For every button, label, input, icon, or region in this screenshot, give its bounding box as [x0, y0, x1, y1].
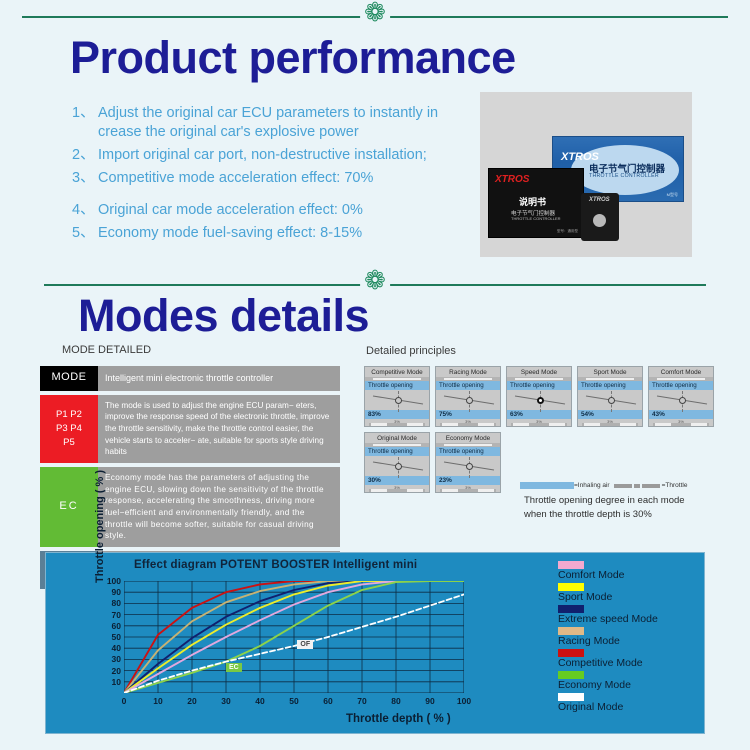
mode-principle-card: Original ModeThrottle opening30%3%: [364, 432, 430, 493]
card-mode-name: Speed Mode: [507, 367, 571, 377]
chart-x-tick-label: 10: [153, 696, 162, 706]
gauge-dot-icon: [537, 397, 544, 404]
chart-y-tick-label: 100: [107, 576, 121, 586]
list-item-number: 2、: [72, 146, 98, 165]
performance-bullet-list: 1、 Adjust the original car ECU parameter…: [72, 104, 472, 247]
caption-line-2: when the throttle depth is 30%: [524, 508, 685, 522]
card-mode-name: Racing Mode: [436, 367, 500, 377]
chart-legend-item: Economy Mode: [558, 671, 658, 691]
mode-description: Economy mode has the parameters of adjus…: [98, 467, 340, 547]
card-foot: 3%: [365, 419, 429, 426]
card-legend: =Inhaling air =Throttle: [520, 482, 687, 489]
legend-swatch: [558, 627, 584, 635]
legend-swatch: [558, 693, 584, 701]
card-mode-name: Competitive Mode: [365, 367, 429, 377]
chart-legend-item: Original Mode: [558, 693, 658, 713]
mode-principle-card: Racing ModeThrottle opening75%3%: [435, 366, 501, 427]
legend-label: Comfort Mode: [558, 569, 658, 581]
chart-x-tick-label: 20: [187, 696, 196, 706]
table-row: MODE Intelligent mini electronic throttl…: [40, 366, 340, 391]
card-band-label: Throttle opening: [436, 447, 500, 456]
card-foot: 3%: [436, 485, 500, 492]
effect-diagram-panel: Effect diagram POTENT BOOSTER Intelligen…: [45, 552, 705, 734]
chart-y-tick-label: 70: [112, 610, 121, 620]
mode-description: The mode is used to adjust the engine EC…: [98, 395, 340, 463]
page-title-modes-details: Modes details: [78, 290, 369, 342]
chart-legend-item: Extreme speed Mode: [558, 605, 658, 625]
chart-legend-item: Racing Mode: [558, 627, 658, 647]
principle-cards: Competitive ModeThrottle opening83%3%Rac…: [364, 366, 714, 498]
card-foot: 3%: [578, 419, 642, 426]
chart-x-tick-label: 40: [255, 696, 264, 706]
legend-label: Extreme speed Mode: [558, 613, 658, 625]
page-title-product-performance: Product performance: [70, 32, 750, 84]
list-item-number: 3、: [72, 169, 98, 188]
gauge-dot-icon: [679, 397, 686, 404]
chart-x-axis-label: Throttle depth ( % ): [346, 713, 451, 725]
chart-title: Effect diagram POTENT BOOSTER Intelligen…: [134, 559, 417, 571]
gauge-dot-icon: [466, 463, 473, 470]
legend-label: Racing Mode: [558, 635, 658, 647]
card-top-strip: [365, 377, 429, 381]
card-top-strip: [365, 443, 429, 447]
gauge-dot-icon: [395, 397, 402, 404]
manual-subtitle-en: THROTTLE CONTROLLER: [511, 216, 561, 221]
gauge-dot-icon: [608, 397, 615, 404]
card-value: 83%: [365, 410, 429, 419]
card-value: 54%: [578, 410, 642, 419]
chart-y-tick-label: 20: [112, 666, 121, 676]
legend-label-inhaling-air: =Inhaling air: [574, 482, 610, 489]
chart-y-tick-label: 30: [112, 654, 121, 664]
card-gauge: [578, 390, 642, 410]
list-item-label: Competitive mode acceleration effect: 70…: [98, 169, 373, 188]
card-foot-label: 3%: [394, 419, 400, 424]
card-foot-label: 3%: [394, 485, 400, 490]
table-row: EC Economy mode has the parameters of ad…: [40, 467, 340, 547]
card-band-label: Throttle opening: [365, 381, 429, 390]
card-value: 43%: [649, 410, 713, 419]
card-value: 63%: [507, 410, 571, 419]
box-model-code: M型号: [667, 192, 678, 198]
card-mode-name: Sport Mode: [578, 367, 642, 377]
card-foot-label: 3%: [678, 419, 684, 424]
chart-x-tick-label: 30: [221, 696, 230, 706]
legend-label: Economy Mode: [558, 679, 658, 691]
chart-x-tick-label: 70: [357, 696, 366, 706]
card-foot-label: 3%: [465, 419, 471, 424]
card-gauge: [365, 390, 429, 410]
throttle-controller-device: XTROS: [581, 193, 619, 241]
box-title-en: THROTTLE CONTROLLER: [589, 173, 659, 179]
card-mode-name: Economy Mode: [436, 433, 500, 443]
card-gauge: [649, 390, 713, 410]
legend-swatch-inhaling-air: [520, 482, 574, 489]
chart-legend: Comfort ModeSport ModeExtreme speed Mode…: [558, 561, 658, 715]
gauge-dot-icon: [466, 397, 473, 404]
ornament-divider-top: ❁: [22, 0, 728, 30]
manual-title-cn: 说明书: [519, 195, 546, 208]
chart-x-tick-label: 60: [323, 696, 332, 706]
card-value: 30%: [365, 476, 429, 485]
chart-y-tick-label: 60: [112, 621, 121, 631]
mode-description: Intelligent mini electronic throttle con…: [98, 366, 340, 391]
card-band-label: Throttle opening: [649, 381, 713, 390]
detailed-principles-label: Detailed principles: [366, 345, 456, 357]
card-foot: 3%: [649, 419, 713, 426]
brand-logo: XTROS: [495, 174, 529, 185]
list-item: 1、 Adjust the original car ECU parameter…: [72, 104, 472, 142]
legend-swatch: [558, 605, 584, 613]
mode-tag: EC: [40, 467, 98, 547]
list-item-label: Import original car port, non-destructiv…: [98, 146, 427, 165]
list-item: 3、 Competitive mode acceleration effect:…: [72, 169, 472, 188]
chart-x-tick-label: 0: [122, 696, 127, 706]
manual-code: 型号：通用型: [557, 229, 578, 234]
mode-principle-card: Economy ModeThrottle opening23%3%: [435, 432, 501, 493]
gauge-dot-icon: [395, 463, 402, 470]
card-top-strip: [649, 377, 713, 381]
list-item: 2、 Import original car port, non-destruc…: [72, 146, 472, 165]
list-item-label: Economy mode fuel-saving effect: 8-15%: [98, 224, 362, 243]
chart-x-tick-label: 80: [391, 696, 400, 706]
flourish-icon: ❁: [360, 0, 390, 26]
table-row: P1 P2 P3 P4 P5 The mode is used to adjus…: [40, 395, 340, 463]
mode-principle-card: Sport ModeThrottle opening54%3%: [577, 366, 643, 427]
product-manual: XTROS 说明书 电子节气门控制器 THROTTLE CONTROLLER 型…: [488, 168, 584, 238]
mode-principle-card: Competitive ModeThrottle opening83%3%: [364, 366, 430, 427]
mode-detailed-label: MODE DETAILED: [62, 344, 151, 356]
chart-y-tick-label: 40: [112, 643, 121, 653]
card-gauge: [365, 456, 429, 476]
card-band-label: Throttle opening: [436, 381, 500, 390]
card-band-label: Throttle opening: [578, 381, 642, 390]
chart-legend-item: Sport Mode: [558, 583, 658, 603]
card-mode-name: Comfort Mode: [649, 367, 713, 377]
card-top-strip: [507, 377, 571, 381]
principle-cards-row-1: Competitive ModeThrottle opening83%3%Rac…: [364, 366, 714, 427]
chart-y-tick-label: 90: [112, 587, 121, 597]
card-mode-name: Original Mode: [365, 433, 429, 443]
card-foot: 3%: [365, 485, 429, 492]
legend-swatch: [558, 583, 584, 591]
card-gauge: [507, 390, 571, 410]
card-foot-label: 3%: [465, 485, 471, 490]
chart-annotation-ec: EC: [226, 663, 242, 672]
chart-y-tick-label: 10: [112, 677, 121, 687]
mode-principle-card: Speed ModeThrottle opening63%3%: [506, 366, 572, 427]
mode-tag: P1 P2 P3 P4 P5: [40, 395, 98, 463]
legend-swatch-throttle: [614, 484, 660, 488]
card-band-label: Throttle opening: [507, 381, 571, 390]
chart-plot-area: 102030405060708090100 010203040506070809…: [124, 581, 464, 693]
chart-y-axis-label: Throttle opening ( % ): [94, 473, 106, 583]
caption-line-1: Throttle opening degree in each mode: [524, 494, 685, 508]
legend-label: Competitive Mode: [558, 657, 658, 669]
card-value: 75%: [436, 410, 500, 419]
list-item: 5、 Economy mode fuel-saving effect: 8-15…: [72, 224, 472, 243]
device-knob-icon: [593, 214, 606, 227]
list-item-label: Adjust the original car ECU parameters t…: [98, 104, 472, 142]
mode-tag: MODE: [40, 366, 98, 391]
card-foot-label: 3%: [536, 419, 542, 424]
card-foot: 3%: [436, 419, 500, 426]
list-item: 4、 Original car mode acceleration effect…: [72, 201, 472, 220]
product-photo: XTROS 电子节气门控制器 THROTTLE CONTROLLER M型号 X…: [480, 92, 692, 257]
legend-label-throttle: =Throttle: [662, 482, 688, 489]
legend-swatch: [558, 649, 584, 657]
card-foot: 3%: [507, 419, 571, 426]
card-top-strip: [436, 377, 500, 381]
chart-x-tick-label: 100: [457, 696, 471, 706]
chart-y-tick-label: 50: [112, 632, 121, 642]
card-top-strip: [436, 443, 500, 447]
cards-caption: Throttle opening degree in each mode whe…: [524, 494, 685, 522]
list-item-label: Original car mode acceleration effect: 0…: [98, 201, 363, 220]
card-gauge: [436, 390, 500, 410]
chart-legend-item: Competitive Mode: [558, 649, 658, 669]
list-item-number: 4、: [72, 201, 98, 220]
card-foot-label: 3%: [607, 419, 613, 424]
legend-label: Sport Mode: [558, 591, 658, 603]
chart-svg: [124, 581, 464, 693]
card-band-label: Throttle opening: [365, 447, 429, 456]
card-gauge: [436, 456, 500, 476]
chart-x-tick-label: 90: [425, 696, 434, 706]
card-value: 23%: [436, 476, 500, 485]
chart-y-tick-label: 80: [112, 598, 121, 608]
legend-swatch: [558, 561, 584, 569]
card-top-strip: [578, 377, 642, 381]
list-item-number: 1、: [72, 104, 98, 142]
chart-legend-item: Comfort Mode: [558, 561, 658, 581]
brand-logo: XTROS: [589, 197, 610, 203]
mode-principle-card: Comfort ModeThrottle opening43%3%: [648, 366, 714, 427]
list-item-number: 5、: [72, 224, 98, 243]
chart-annotation-of: OF: [297, 640, 313, 649]
chart-x-tick-label: 50: [289, 696, 298, 706]
legend-swatch: [558, 671, 584, 679]
legend-label: Original Mode: [558, 701, 658, 713]
